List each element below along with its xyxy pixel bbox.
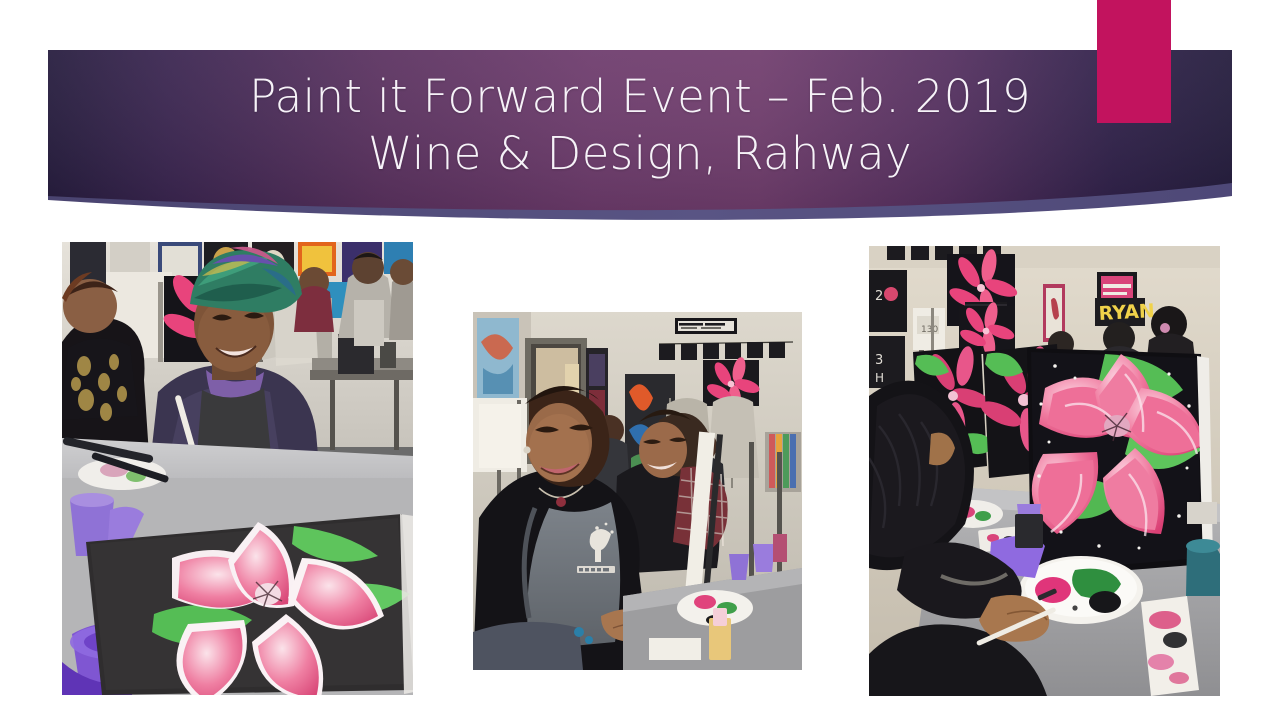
svg-text:H: H — [875, 371, 884, 385]
main-flower-canvas — [1027, 348, 1213, 578]
wall-sign-what-happens-here — [675, 318, 737, 334]
photo-center-artwork — [473, 312, 802, 670]
svg-text:130: 130 — [921, 325, 938, 335]
photo-two-women-smiling-aprons — [473, 312, 802, 670]
banner-shape — [0, 0, 1280, 235]
title-banner: Paint it Forward Event – Feb. 2019 Wine … — [0, 0, 1280, 235]
photo-painting-class-woman-headwrap — [62, 242, 413, 695]
svg-text:3: 3 — [875, 353, 883, 368]
slide: Paint it Forward Event – Feb. 2019 Wine … — [0, 0, 1280, 720]
svg-text:RYAN: RYAN — [1098, 300, 1155, 325]
photo-right-artwork: 2 3 H — [869, 246, 1220, 696]
flower-canvas-painting — [86, 514, 413, 695]
svg-text:2: 2 — [875, 289, 883, 304]
photo-left-artwork — [62, 242, 413, 695]
banner-body-shade — [48, 50, 1232, 210]
photo-woman-painting-flower-canvas: 2 3 H — [869, 246, 1220, 696]
accent-rectangle — [1097, 0, 1171, 123]
wall-sign-ryan: RYAN — [1095, 298, 1155, 326]
